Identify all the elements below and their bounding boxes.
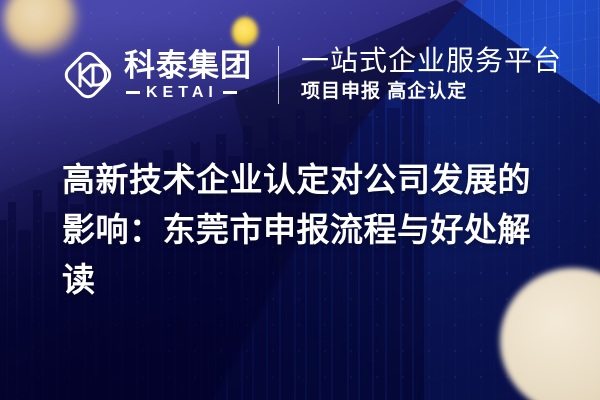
- promo-banner: 科泰集团 KETAI 一站式企业服务平台 项目申报 高企认定 高新技术企业认定对…: [0, 0, 600, 400]
- header-divider: [278, 46, 279, 104]
- logo-name-en: KETAI: [146, 85, 218, 101]
- logo-dash-right-icon: [223, 91, 237, 94]
- logo-name-en-row: KETAI: [124, 85, 252, 101]
- gold-orb-small-icon: [232, 17, 258, 47]
- ketai-diamond-monogram-icon: [62, 49, 114, 101]
- logo-dash-left-icon: [126, 91, 140, 94]
- tagline-main: 一站式企业服务平台: [301, 46, 562, 76]
- banner-header: 科泰集团 KETAI 一站式企业服务平台 项目申报 高企认定: [62, 44, 562, 106]
- tagline-sub: 项目申报 高企认定: [301, 81, 562, 104]
- headline-title: 高新技术企业认定对公司发展的影响：东莞市申报流程与好处解读: [62, 155, 552, 305]
- brand-logo[interactable]: 科泰集团 KETAI: [62, 49, 252, 101]
- logo-wordmark: 科泰集团 KETAI: [124, 50, 252, 101]
- logo-name-cn: 科泰集团: [124, 50, 252, 81]
- tagline-block: 一站式企业服务平台 项目申报 高企认定: [301, 46, 562, 104]
